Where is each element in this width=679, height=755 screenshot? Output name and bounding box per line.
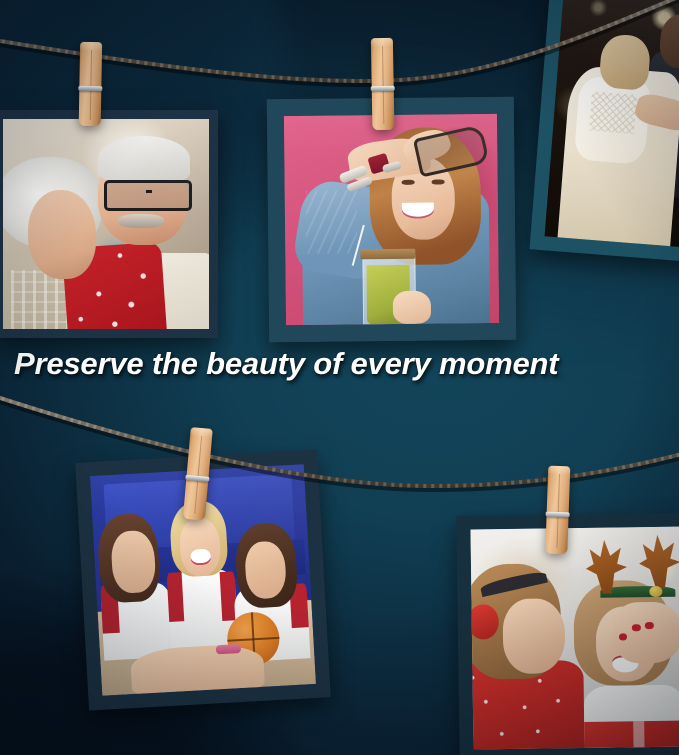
background-vignette <box>0 0 679 755</box>
promo-banner: Preserve the beauty of every moment <box>0 0 679 755</box>
